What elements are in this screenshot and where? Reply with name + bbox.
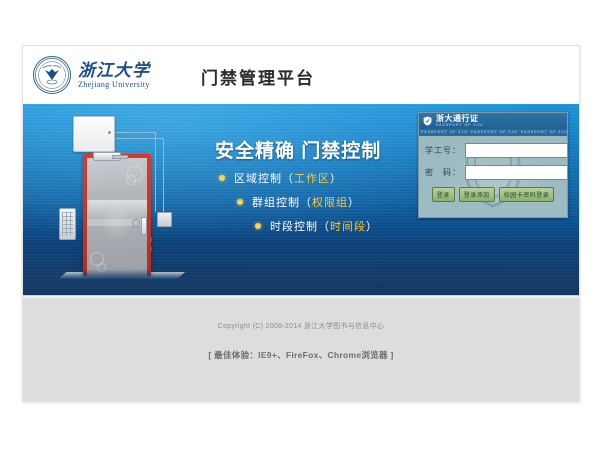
login-button-row: 登录 登录添加 校园卡密码登录 xyxy=(425,187,561,202)
bullet-dot-icon xyxy=(255,223,261,229)
door-handle xyxy=(141,217,147,235)
zju-seal-icon xyxy=(33,56,71,94)
door-lock-icon xyxy=(132,219,140,227)
banner-headline: 安全精确 门禁控制 xyxy=(215,136,381,163)
password-input[interactable] xyxy=(465,165,568,180)
page-title: 门禁管理平台 xyxy=(201,64,315,89)
wire xyxy=(155,132,156,212)
feature-tail: ） xyxy=(330,173,342,185)
door-illustration xyxy=(39,112,199,292)
keypad-reader-icon xyxy=(59,208,76,240)
list-item: 区域控制（工作区） xyxy=(219,170,378,186)
watermark-text: PASSPORT OF ZJU xyxy=(421,130,468,134)
shield-icon xyxy=(423,116,432,126)
page-container: 浙江大学 Zhejiang University 门禁管理平台 xyxy=(22,45,580,402)
banner-bottom-fade xyxy=(23,269,579,295)
footer-divider xyxy=(23,296,579,298)
password-label: 密 码： xyxy=(425,167,461,178)
card-reader-icon xyxy=(157,212,172,227)
feature-label: 群组控制（ xyxy=(252,197,312,209)
security-door xyxy=(83,154,151,276)
feature-label: 区域控制（ xyxy=(234,173,294,185)
copyright-text: Copyright (C) 2008-2014 浙江大学图书与信息中心 xyxy=(23,296,579,331)
watermark-text: PASSPORT OF ZJU xyxy=(521,130,567,134)
site-footer: Copyright (C) 2008-2014 浙江大学图书与信息中心 [ 最佳… xyxy=(23,295,579,402)
university-name-en: Zhejiang University xyxy=(78,81,150,89)
username-row: 学工号： xyxy=(425,143,561,158)
login-subtitle: PASSPORT OF ZJU xyxy=(436,124,483,128)
site-header: 浙江大学 Zhejiang University 门禁管理平台 xyxy=(23,46,579,104)
watermark-text: PASSPORT OF ZJU xyxy=(471,130,518,134)
wire xyxy=(163,138,164,212)
feature-highlight: 权限组 xyxy=(312,197,348,209)
access-controller-box xyxy=(73,116,115,152)
feature-tail: ） xyxy=(348,197,360,209)
list-item: 时段控制（时间段） xyxy=(255,218,378,234)
wire xyxy=(113,132,155,133)
username-label: 学工号： xyxy=(425,145,461,156)
university-name-cn: 浙江大学 xyxy=(78,62,150,79)
campus-card-login-button[interactable]: 校园卡密码登录 xyxy=(499,187,555,202)
login-button[interactable]: 登录 xyxy=(432,187,455,202)
list-item: 群组控制（权限组） xyxy=(237,194,378,210)
feature-label: 时段控制（ xyxy=(270,221,330,233)
university-logo[interactable]: 浙江大学 Zhejiang University xyxy=(33,56,150,94)
login-title: 浙大通行证 xyxy=(436,115,483,123)
browser-support-text: [ 最佳体验：IE9+、FireFox、Chrome浏览器 ] xyxy=(23,331,579,361)
login-panel-header: 浙大通行证 PASSPORT OF ZJU xyxy=(419,113,567,129)
hero-banner: 安全精确 门禁控制 区域控制（工作区） 群组控制（权限组） 时段控制（时间段） xyxy=(23,104,579,295)
login-panel: 浙大通行证 PASSPORT OF ZJU PASSPORT OF ZJU PA… xyxy=(418,112,568,218)
feature-tail: ） xyxy=(366,221,378,233)
door-closer xyxy=(93,152,121,161)
login-watermark-strip: PASSPORT OF ZJU PASSPORT OF ZJU PASSPORT… xyxy=(419,129,567,136)
banner-feature-list: 区域控制（工作区） 群组控制（权限组） 时段控制（时间段） xyxy=(219,170,378,242)
password-row: 密 码： xyxy=(425,165,561,180)
feature-highlight: 工作区 xyxy=(294,173,330,185)
username-input[interactable] xyxy=(465,143,568,158)
login-add-button[interactable]: 登录添加 xyxy=(459,187,495,202)
bullet-dot-icon xyxy=(219,175,225,181)
bullet-dot-icon xyxy=(237,199,243,205)
feature-highlight: 时间段 xyxy=(330,221,366,233)
